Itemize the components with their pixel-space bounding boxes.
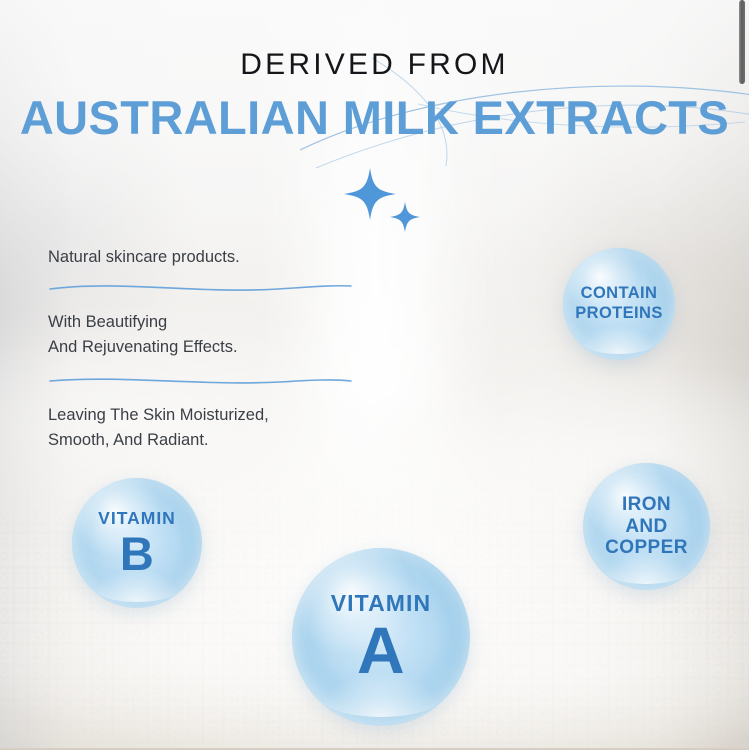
benefits-copy-block: Natural skincare products. With Beautify…: [48, 245, 378, 454]
bubble-vitamin-a: VITAMIN A: [292, 548, 470, 726]
vertical-scrollbar-thumb[interactable]: [739, 0, 745, 84]
benefit-line-1: Natural skincare products.: [48, 245, 378, 271]
sparkle-decoration-group: [330, 160, 450, 250]
bubble-label-letter: B: [120, 531, 154, 577]
bubble-label-line-2: PROTEINS: [575, 304, 663, 324]
headline-block: DERIVED FROM AUSTRALIAN MILK EXTRACTS: [0, 48, 749, 144]
wavy-divider-1: [48, 280, 353, 296]
headline-eyebrow: DERIVED FROM: [0, 48, 749, 81]
benefit-line-3a: Leaving The Skin Moisturized,: [48, 403, 378, 429]
page-canvas: DERIVED FROM AUSTRALIAN MILK EXTRACTS Na…: [0, 0, 749, 750]
bubble-label-line-1: IRON: [622, 494, 671, 516]
benefit-line-2b: And Rejuvenating Effects.: [48, 335, 378, 361]
bubble-vitamin-b: VITAMIN B: [72, 478, 202, 608]
bubble-label-letter: A: [357, 618, 405, 683]
bubble-label-line-1: CONTAIN: [581, 284, 658, 304]
vertical-scrollbar-track[interactable]: [735, 0, 749, 750]
wavy-divider-2: [48, 373, 353, 389]
bubble-contain-proteins: CONTAIN PROTEINS: [563, 248, 675, 360]
sparkle-small-icon: [390, 202, 420, 232]
benefit-line-3b: Smooth, And Radiant.: [48, 428, 378, 454]
bubble-label-line-2: AND: [625, 516, 667, 538]
page-title: AUSTRALIAN MILK EXTRACTS: [0, 93, 749, 144]
bubble-label-word: VITAMIN: [98, 509, 176, 528]
sparkle-large-icon: [344, 168, 396, 220]
bubble-label-line-3: COPPER: [605, 537, 688, 559]
bubble-iron-and-copper: IRON AND COPPER: [583, 463, 710, 590]
benefit-line-2a: With Beautifying: [48, 310, 378, 336]
